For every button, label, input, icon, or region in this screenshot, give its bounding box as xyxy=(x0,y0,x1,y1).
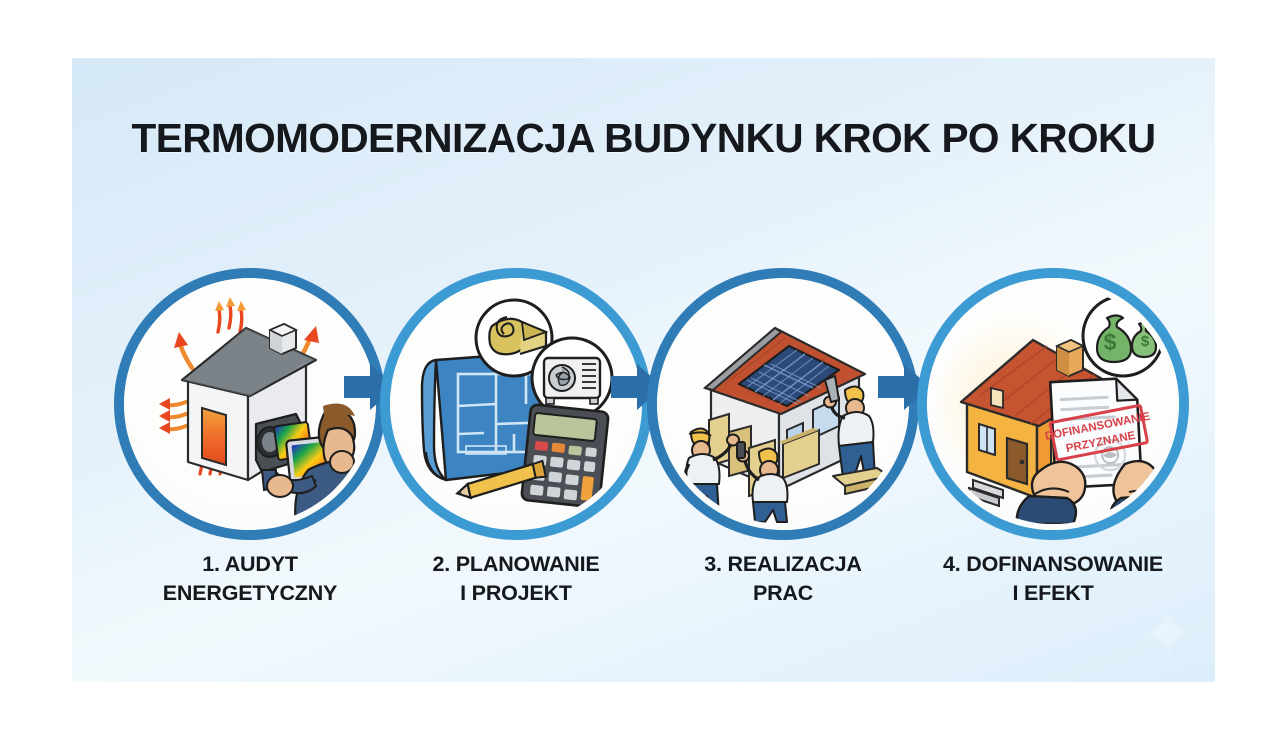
step-1-circle xyxy=(124,278,376,530)
money-dollar-symbol: $ xyxy=(1104,329,1117,355)
step-3-illustration-works xyxy=(663,284,903,524)
step-1-caption-line2: ENERGETYCZNY xyxy=(100,579,400,608)
infographic-panel: TERMOMODERNIZACJA BUDYNKU KROK PO KROKU xyxy=(72,58,1215,682)
step-3-caption: 3. REALIZACJA PRAC xyxy=(633,550,933,607)
step-2-caption: 2. PLANOWANIE I PROJEKT xyxy=(366,550,666,607)
step-4-illustration-funding: $ $ DOFINANSOWANIE xyxy=(933,284,1173,524)
arrow-step3-to-step4 xyxy=(874,358,934,416)
page-title: TERMOMODERNIZACJA BUDYNKU KROK PO KROKU xyxy=(78,115,1210,162)
step-3-caption-line1: 3. REALIZACJA xyxy=(633,550,933,579)
step-2-circle xyxy=(390,278,642,530)
sparkle-icon xyxy=(1145,610,1191,656)
step-2-caption-line2: I PROJEKT xyxy=(366,579,666,608)
step-4-caption-line1: 4. DOFINANSOWANIE xyxy=(903,550,1203,579)
step-4-circle: $ $ DOFINANSOWANIE xyxy=(927,278,1179,530)
step-2-illustration-planning xyxy=(396,284,636,524)
step-4-caption-line2: I EFEKT xyxy=(903,579,1203,608)
step-3-circle xyxy=(657,278,909,530)
step-3-caption-line2: PRAC xyxy=(633,579,933,608)
step-4-caption: 4. DOFINANSOWANIE I EFEKT xyxy=(903,550,1203,607)
step-1-caption-line1: 1. AUDYT xyxy=(100,550,400,579)
step-2-caption-line1: 2. PLANOWANIE xyxy=(366,550,666,579)
step-1-caption: 1. AUDYT ENERGETYCZNY xyxy=(100,550,400,607)
step-1-illustration-thermal-audit xyxy=(130,284,370,524)
money-dollar-symbol-small: $ xyxy=(1141,333,1150,350)
